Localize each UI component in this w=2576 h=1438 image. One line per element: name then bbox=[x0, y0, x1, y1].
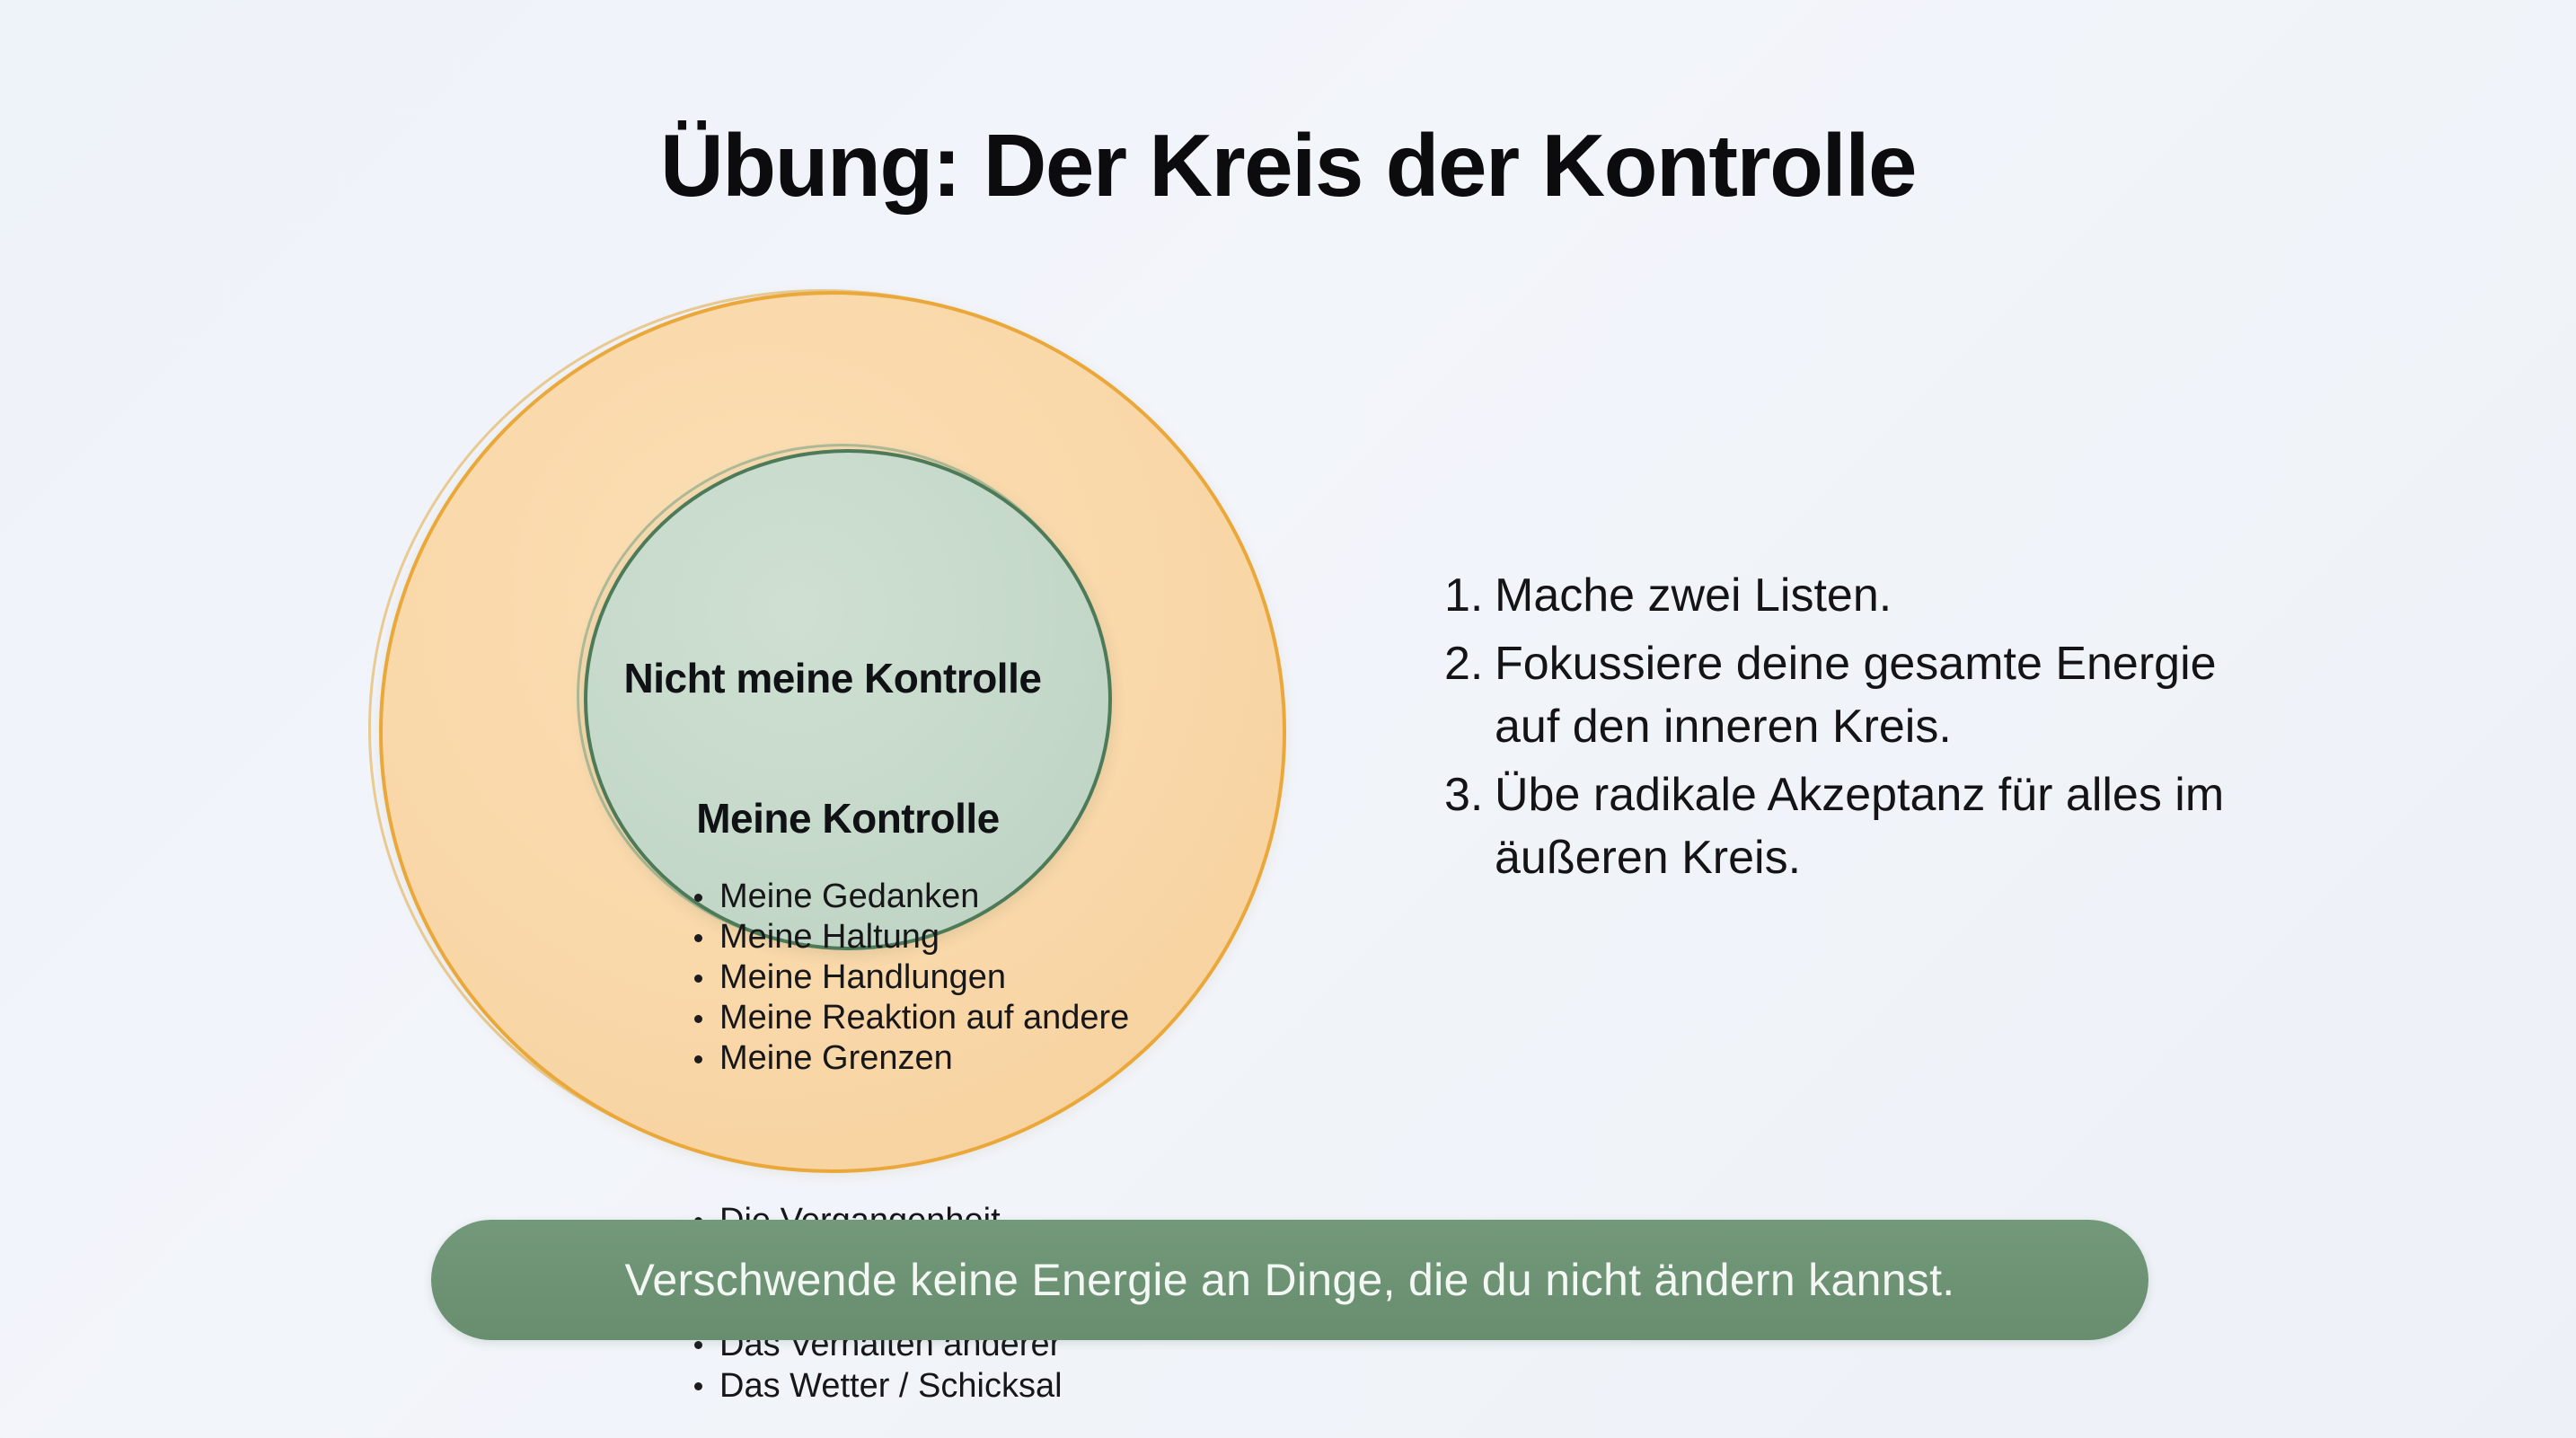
step-text: Fokussiere deine gesamte Energie auf den… bbox=[1495, 632, 2253, 758]
list-item: Meine Grenzen bbox=[687, 1038, 1129, 1079]
banner-text: Verschwende keine Energie an Dinge, die … bbox=[625, 1254, 1955, 1306]
page-title: Übung: Der Kreis der Kontrolle bbox=[0, 115, 2576, 216]
list-item: Meine Handlungen bbox=[687, 957, 1129, 998]
step-number: 3. bbox=[1444, 763, 1495, 826]
list-item: Meine Reaktion auf andere bbox=[687, 998, 1129, 1038]
step-text: Übe radikale Akzeptanz für alles im äuße… bbox=[1495, 763, 2253, 889]
circle-of-control-diagram: Nicht meine Kontrolle Meine Kontrolle Me… bbox=[368, 286, 1302, 1193]
step-number: 2. bbox=[1444, 632, 1495, 695]
outer-circle-heading: Nicht meine Kontrolle bbox=[379, 654, 1286, 702]
step-item: 2. Fokussiere deine gesamte Energie auf … bbox=[1444, 632, 2253, 758]
key-message-banner: Verschwende keine Energie an Dinge, die … bbox=[431, 1220, 2148, 1340]
list-item: Meine Gedanken bbox=[687, 877, 1129, 917]
list-item: Das Wetter / Schicksal bbox=[687, 1365, 1063, 1407]
inner-circle-item-list: Meine Gedanken Meine Haltung Meine Handl… bbox=[687, 877, 1129, 1079]
step-item: 3. Übe radikale Akzeptanz für alles im ä… bbox=[1444, 763, 2253, 889]
step-item: 1. Mache zwei Listen. bbox=[1444, 564, 2253, 627]
slide-canvas: Übung: Der Kreis der Kontrolle Nicht mei… bbox=[0, 0, 2576, 1438]
list-item: Meine Haltung bbox=[687, 917, 1129, 957]
step-text: Mache zwei Listen. bbox=[1495, 564, 2253, 627]
step-number: 1. bbox=[1444, 564, 1495, 627]
inner-circle-heading: Meine Kontrolle bbox=[584, 794, 1112, 843]
instruction-steps-list: 1. Mache zwei Listen. 2. Fokussiere dein… bbox=[1444, 564, 2253, 895]
